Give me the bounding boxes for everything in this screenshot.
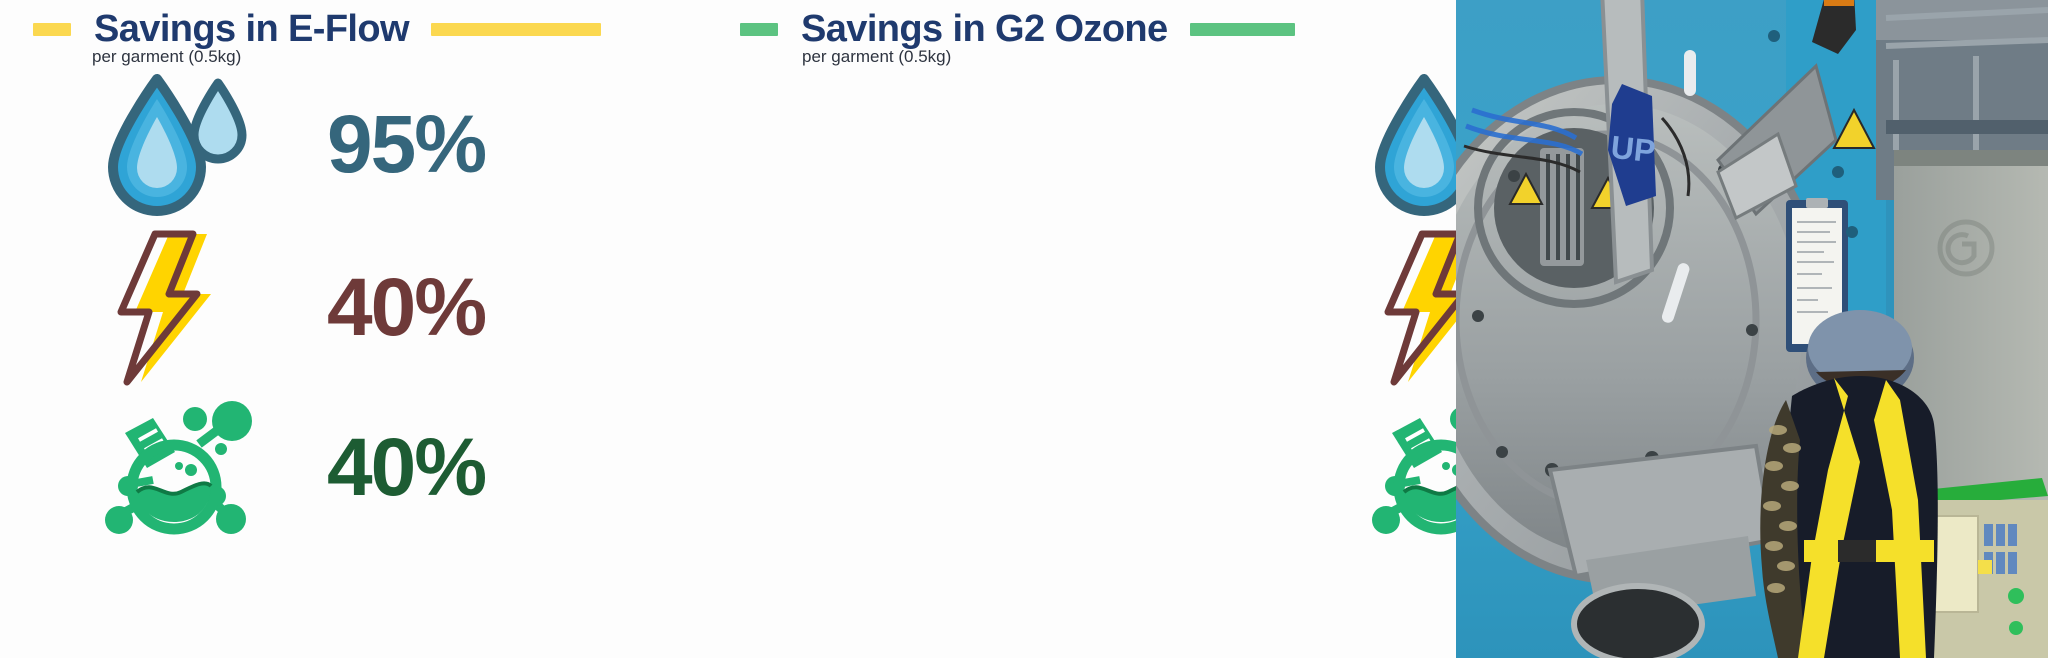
accent-dash-right-icon [1190, 23, 1295, 36]
stat-row: 40% [70, 228, 485, 388]
chemical-flask-molecule-icon [95, 388, 265, 548]
water-drops-icon [95, 65, 265, 225]
lightning-bolt-icon [95, 228, 265, 388]
accent-dash-left-icon [740, 23, 778, 36]
column-title: Savings in E-Flow [94, 10, 409, 48]
column-subtitle: per garment (0.5kg) [802, 48, 951, 65]
stat-value: 40% [327, 427, 485, 509]
stats-panels: Savings in E-Flow per garment (0.5kg) [0, 0, 1456, 658]
stat-row: 95% [70, 65, 485, 225]
stat-value: 40% [327, 267, 485, 349]
accent-dash-right-icon [431, 23, 601, 36]
svg-text:UP: UP [1609, 129, 1657, 169]
stats-column-g2-ozone: Savings in G2 Ozone per garment (0.5kg) … [740, 0, 1456, 658]
column-title: Savings in G2 Ozone [801, 10, 1168, 48]
column-header-g2-ozone: Savings in G2 Ozone [740, 10, 1295, 48]
accent-dash-left-icon [33, 23, 71, 36]
infographic-page: Savings in E-Flow per garment (0.5kg) [0, 0, 2048, 658]
stat-value: 95% [327, 104, 485, 186]
industrial-laundry-machine-photo: UP [1456, 0, 2048, 658]
column-header-e-flow: Savings in E-Flow [33, 10, 601, 48]
column-subtitle: per garment (0.5kg) [92, 48, 241, 65]
stats-column-e-flow: Savings in E-Flow per garment (0.5kg) [0, 0, 740, 658]
stat-row: 40% [70, 388, 485, 548]
